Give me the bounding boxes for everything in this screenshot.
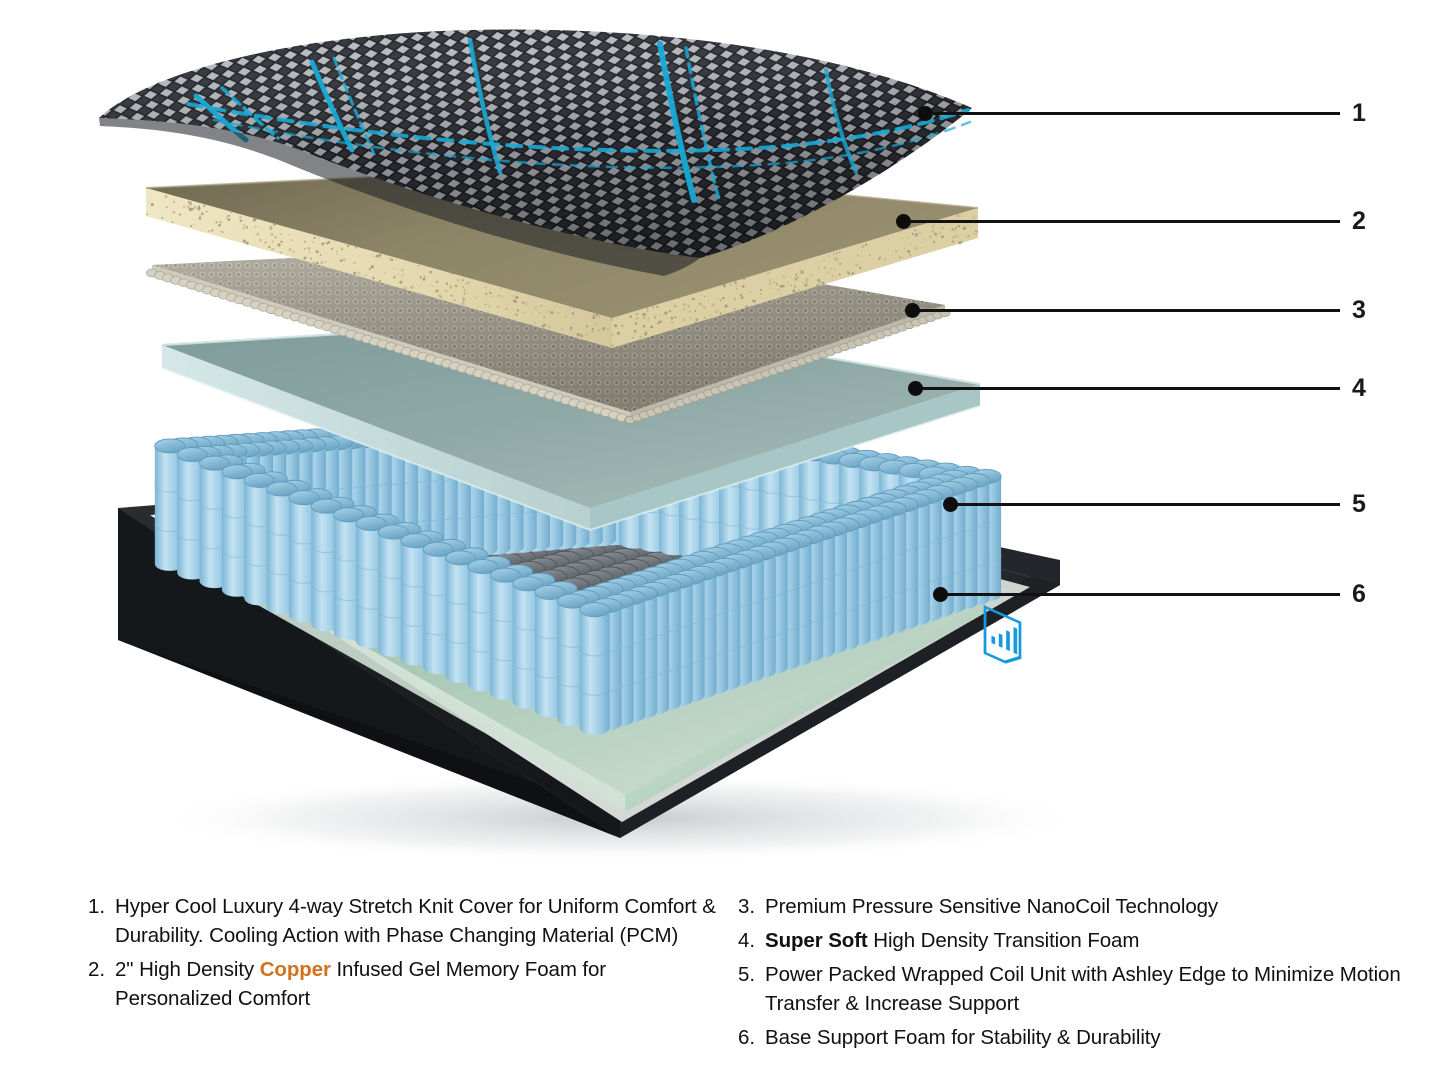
foam-speckle [939,231,941,233]
foam-speckle [617,332,620,335]
foam-speckle [457,279,459,281]
foam-speckle [956,214,959,217]
foam-speckle [303,257,306,260]
foam-speckle [187,206,190,209]
foam-speckle [683,308,685,310]
foam-speckle [776,283,778,285]
foam-speckle [561,328,563,330]
legend-marker: 6. [738,1023,765,1052]
foam-speckle [795,274,797,276]
legend-text-segment: Hyper Cool Luxury 4-way Stretch Knit Cov… [115,895,716,947]
foam-speckle [839,263,841,265]
foam-speckle [146,213,148,215]
foam-speckle [548,325,551,328]
callout-dot-3 [905,303,920,318]
foam-speckle [468,281,470,283]
foam-speckle [318,237,320,239]
foam-speckle [230,211,232,213]
foam-speckle [379,280,381,282]
foam-speckle [227,218,230,221]
foam-speckle [899,256,902,259]
foam-speckle [189,203,192,206]
foam-speckle [410,286,413,289]
foam-speckle [823,259,825,261]
legend-marker: 3. [738,892,765,921]
foam-speckle [931,225,934,228]
foam-speckle [540,305,542,307]
foam-speckle [570,327,573,330]
foam-speckle [655,314,657,316]
foam-speckle [423,278,425,280]
foam-speckle [403,287,406,290]
foam-speckle [836,260,838,262]
foam-speckle [736,288,738,290]
foam-speckle [312,261,315,264]
legend-column-right: 3.Premium Pressure Sensitive NanoCoil Te… [720,892,1420,1058]
foam-speckle [450,295,452,297]
foam-speckle [432,285,434,287]
foam-speckle [243,227,245,229]
foam-speckle [219,221,222,224]
foam-speckle [393,276,395,278]
foam-speckle [379,254,382,257]
foam-speckle [648,318,649,319]
foam-speckle [734,298,735,299]
foam-speckle [687,305,690,308]
foam-speckle [735,285,736,286]
legend-text-segment: Base Support Foam for Stability & Durabi… [765,1026,1161,1049]
foam-speckle [203,205,205,207]
foam-speckle [243,240,246,243]
foam-speckle [221,231,223,233]
foam-speckle [485,293,487,295]
foam-speckle [914,229,916,231]
foam-speckle [834,268,836,270]
foam-speckle [811,274,812,275]
foam-speckle [725,305,728,308]
foam-speckle [647,310,649,312]
foam-speckle [502,296,504,298]
foam-speckle [542,325,545,328]
foam-speckle [462,279,464,281]
foam-speckle [581,334,583,336]
foam-speckle [910,243,912,245]
legend-text: Base Support Foam for Stability & Durabi… [765,1023,1161,1052]
foam-speckle [607,328,609,330]
legend-item: 3.Premium Pressure Sensitive NanoCoil Te… [738,892,1420,921]
foam-speckle [399,281,402,284]
foam-speckle [709,314,711,316]
foam-speckle [819,281,822,284]
foam-speckle [743,277,746,280]
foam-speckle [973,233,975,235]
foam-speckle [347,245,349,247]
foam-speckle [515,313,517,315]
foam-speckle [795,287,796,288]
foam-speckle [488,305,490,307]
foam-speckle [353,262,356,265]
foam-speckle [774,281,776,283]
foam-speckle [513,300,516,303]
callout-dot-5 [943,497,958,512]
foam-speckle [767,272,769,274]
foam-speckle [340,259,343,262]
foam-speckle [524,312,526,314]
foam-speckle [280,241,282,243]
foam-speckle [720,312,722,314]
foam-speckle [802,282,803,283]
foam-speckle [966,236,969,239]
foam-speckle [215,221,217,223]
foam-speckle [539,312,541,314]
foam-speckle [173,211,176,214]
legend-text-segment: High Density Transition Foam [868,929,1140,952]
foam-speckle [226,217,228,219]
foam-speckle [455,285,457,287]
foam-speckle [424,276,426,278]
foam-speckle [312,241,314,243]
foam-speckle [446,282,448,284]
foam-speckle [420,276,422,278]
foam-speckle [275,236,277,238]
foam-speckle [561,327,563,329]
foam-speckle [861,245,864,248]
foam-speckle [543,316,546,319]
foam-speckle [201,212,204,215]
foam-speckle [569,307,571,309]
legend-marker: 2. [88,955,115,984]
foam-speckle [671,317,674,320]
foam-speckle [227,216,229,218]
foam-speckle [824,266,827,269]
foam-speckle [643,316,646,319]
foam-speckle [902,257,904,259]
foam-speckle [611,333,614,336]
foam-speckle [855,264,856,265]
foam-speckle [769,282,772,285]
callout-number-4: 4 [1352,376,1366,401]
foam-speckle [449,285,452,288]
foam-speckle [211,229,213,231]
foam-speckle [805,281,808,284]
foam-speckle [630,315,632,317]
legend-text-segment: Copper [260,958,331,981]
foam-speckle [530,313,532,315]
legend-item: 5.Power Packed Wrapped Coil Unit with As… [738,960,1420,1018]
foam-speckle [429,271,432,274]
foam-speckle [674,316,676,318]
foam-speckle [376,254,379,257]
foam-speckle [781,293,782,294]
foam-speckle [782,285,785,288]
foam-speckle [164,195,167,198]
foam-speckle [952,240,954,242]
foam-speckle [269,226,272,229]
foam-speckle [760,293,762,295]
foam-speckle [171,221,173,223]
foam-speckle [279,243,280,244]
foam-speckle [239,216,242,219]
foam-speckle [280,233,282,235]
foam-speckle [951,228,954,231]
foam-speckle [273,223,276,226]
callout-dot-6 [933,587,948,602]
foam-speckle [657,322,659,324]
foam-speckle [289,248,292,251]
foam-speckle [397,274,399,276]
foam-speckle [535,306,538,309]
foam-speckle [537,309,539,311]
legend-marker: 5. [738,960,765,989]
foam-speckle [888,239,890,241]
foam-speckle [585,333,587,335]
foam-speckle [884,258,887,261]
foam-speckle [669,310,671,312]
foam-speckle [451,272,453,274]
foam-speckle [320,261,323,264]
foam-speckle [505,308,507,310]
foam-speckle [316,263,318,265]
foam-speckle [586,325,588,327]
foam-speckle [878,258,880,260]
foam-speckle [798,289,801,292]
foam-speckle [915,233,918,236]
foam-speckle [359,273,361,275]
legend-text: Premium Pressure Sensitive NanoCoil Tech… [765,892,1218,921]
foam-speckle [682,318,685,321]
foam-speckle [694,310,696,312]
legend-column-left: 1.Hyper Cool Luxury 4-way Stretch Knit C… [0,892,720,1018]
foam-speckle [485,286,487,288]
foam-speckle [280,252,282,254]
foam-speckle [240,219,243,222]
foam-speckle [304,248,305,249]
foam-speckle [466,282,469,285]
mattress-exploded-diagram: 123456 [0,0,1445,880]
foam-speckle [790,284,791,285]
foam-speckle [595,324,597,326]
foam-speckle [454,299,456,301]
foam-speckle [933,241,935,243]
foam-speckle [712,303,715,306]
foam-speckle [304,240,307,243]
callout-line-5 [950,503,1340,506]
foam-speckle [374,256,376,258]
foam-speckle [614,324,617,327]
foam-speckle [720,299,722,301]
foam-speckle [558,312,560,314]
foam-speckle [729,283,732,286]
foam-speckle [857,254,859,256]
foam-speckle [749,291,750,292]
foam-speckle [326,242,328,244]
legend-text-segment: 2" High Density [115,958,260,981]
foam-speckle [909,253,912,256]
foam-speckle [616,318,618,320]
foam-speckle [895,250,898,253]
foam-speckle [513,294,515,296]
foam-speckle [592,328,594,330]
foam-speckle [436,290,439,293]
foam-speckle [534,322,536,324]
foam-speckle [417,265,419,267]
foam-speckle [681,310,682,311]
foam-speckle [592,316,595,319]
foam-speckle [521,301,524,304]
foam-speckle [353,272,356,275]
foam-speckle [577,333,580,336]
foam-speckle [206,211,208,213]
foam-speckle [704,296,705,297]
foam-speckle [654,316,656,318]
foam-speckle [634,330,637,333]
callout-number-1: 1 [1352,101,1366,126]
foam-speckle [246,242,249,245]
foam-speckle [272,240,274,242]
foam-speckle [218,224,221,227]
legend-text-segment: Power Packed Wrapped Coil Unit with Ashl… [765,963,1401,1015]
foam-speckle [647,308,649,310]
foam-speckle [642,313,645,316]
foam-speckle [635,318,637,320]
foam-speckle [674,305,676,307]
foam-speckle [343,258,346,261]
foam-speckle [254,217,257,220]
foam-speckle [446,290,448,292]
callout-dot-1 [918,106,933,121]
callout-line-1 [925,112,1340,115]
foam-speckle [371,265,374,268]
exploded-layers-illustration [0,0,1445,880]
foam-speckle [464,292,467,295]
foam-speckle [690,317,692,319]
foam-speckle [818,267,820,269]
wrapped-coil-blue [580,603,610,735]
foam-speckle [912,233,914,235]
foam-speckle [645,313,647,315]
foam-speckle [915,247,918,250]
foam-speckle [183,205,185,207]
foam-speckle [734,299,735,300]
foam-speckle [489,292,491,294]
foam-speckle [778,289,780,291]
foam-speckle [704,307,706,309]
foam-speckle [708,299,710,301]
foam-speckle [976,230,979,233]
foam-speckle [393,268,395,270]
foam-speckle [832,275,834,277]
foam-speckle [648,320,650,322]
foam-speckle [722,297,724,299]
foam-speckle [929,235,932,238]
foam-speckle [805,284,808,287]
foam-speckle [792,289,795,292]
foam-speckle [402,274,404,276]
foam-speckle [869,254,871,256]
foam-speckle [292,251,294,253]
callout-number-6: 6 [1352,582,1366,607]
foam-speckle [650,325,653,328]
foam-speckle [907,237,909,239]
foam-speckle [671,321,674,324]
foam-speckle [357,271,359,273]
foam-speckle [621,325,623,327]
foam-speckle [372,277,374,279]
legend-text: Super Soft High Density Transition Foam [765,926,1139,955]
foam-speckle [954,230,956,232]
foam-speckle [741,296,744,299]
callout-line-3 [912,309,1340,312]
foam-speckle [958,241,961,244]
foam-speckle [310,258,312,260]
foam-speckle [161,217,163,219]
foam-speckle [959,215,961,217]
foam-speckle [799,269,801,271]
foam-speckle [546,311,548,313]
foam-speckle [462,286,464,288]
foam-speckle [958,225,960,227]
foam-speckle [955,227,957,229]
foam-speckle [639,336,641,338]
legend-item: 4.Super Soft High Density Transition Foa… [738,926,1420,955]
foam-speckle [800,271,803,274]
foam-speckle [447,272,449,274]
legend-marker: 1. [88,892,115,921]
foam-speckle [847,262,849,264]
foam-speckle [369,268,371,270]
foam-speckle [694,322,696,324]
foam-speckle [307,247,310,250]
foam-speckle [952,236,955,239]
legend: 1.Hyper Cool Luxury 4-way Stretch Knit C… [0,892,1445,1084]
foam-speckle [365,274,367,276]
foam-speckle [933,223,935,225]
foam-speckle [395,259,397,261]
foam-speckle [190,209,192,211]
foam-speckle [498,295,500,297]
foam-speckle [695,318,698,321]
legend-item: 2.2" High Density Copper Infused Gel Mem… [88,955,720,1013]
foam-speckle [919,232,921,234]
callout-number-3: 3 [1352,298,1366,323]
foam-speckle [856,264,858,266]
foam-speckle [973,217,975,219]
foam-speckle [270,233,273,236]
foam-speckle [934,233,937,236]
foam-speckle [462,303,464,305]
foam-speckle [907,250,910,253]
callout-number-5: 5 [1352,492,1366,517]
foam-speckle [492,296,494,298]
foam-speckle [198,206,200,208]
foam-speckle [291,239,293,241]
foam-speckle [598,315,601,318]
foam-speckle [602,327,605,330]
foam-speckle [391,258,394,261]
foam-speckle [525,304,527,306]
foam-speckle [288,234,289,235]
foam-speckle [659,320,662,323]
foam-speckle [573,307,575,309]
foam-speckle [384,272,386,274]
foam-speckle [879,256,881,258]
foam-speckle [830,268,832,270]
foam-speckle [325,261,327,263]
foam-speckle [188,201,190,203]
foam-speckle [745,305,747,307]
foam-speckle [795,278,797,280]
foam-speckle [846,271,849,274]
